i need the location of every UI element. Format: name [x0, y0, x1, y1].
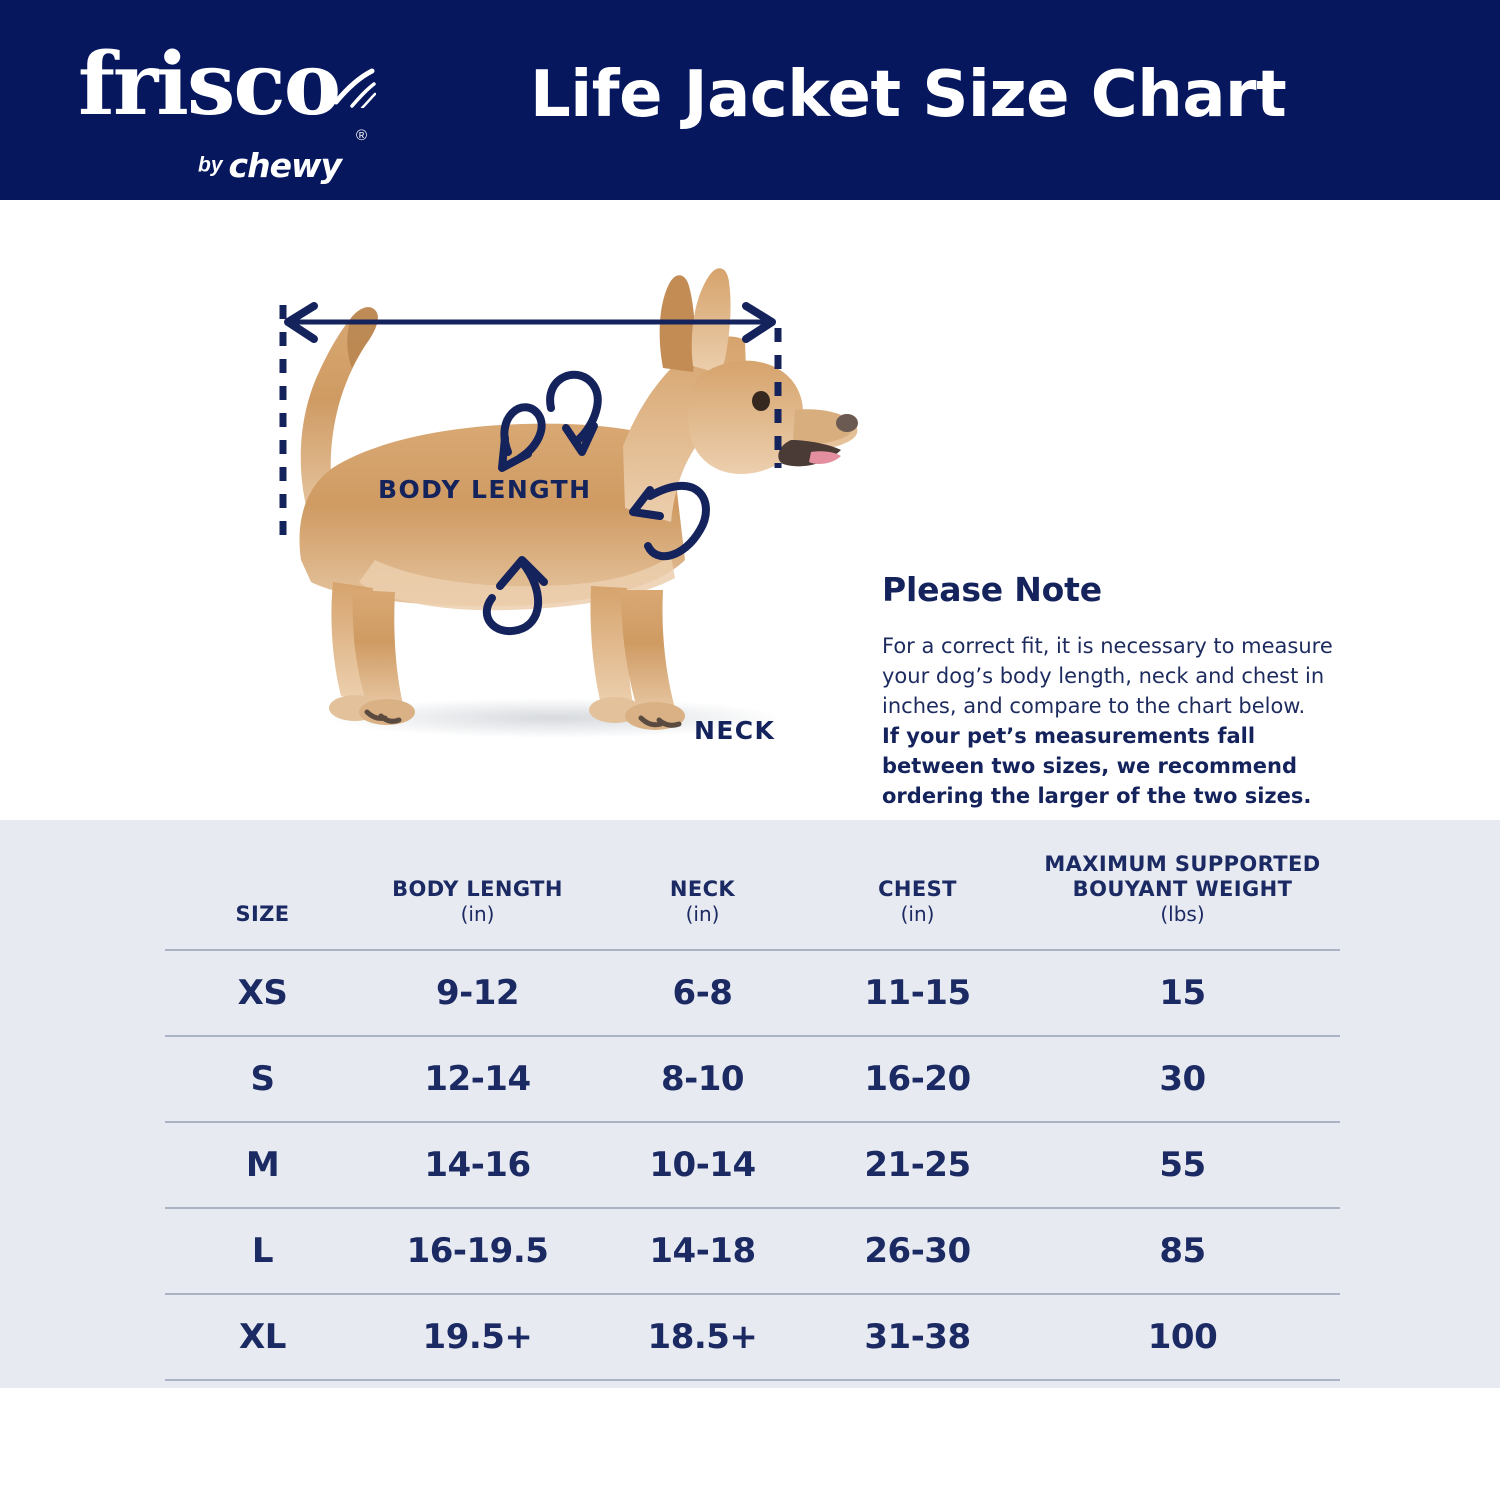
column-header-body-length-unit: (in): [364, 902, 591, 927]
table-row: M 14-16 10-14 21-25 55: [165, 1122, 1340, 1208]
cell-chest: 16-20: [810, 1036, 1025, 1122]
dog-ear-back: [660, 275, 695, 372]
dog-illustration: [255, 260, 875, 780]
please-note-emphasis: If your pet’s measurements fall between …: [882, 721, 1352, 811]
cell-weight: 85: [1025, 1208, 1340, 1294]
page-title: Life Jacket Size Chart: [530, 58, 1286, 132]
cell-size: M: [165, 1122, 360, 1208]
dog-ear-front: [692, 268, 731, 374]
please-note-paragraph: For a correct fit, it is necessary to me…: [882, 631, 1352, 721]
registered-trademark-icon: ®: [356, 128, 367, 143]
table-row: L 16-19.5 14-18 26-30 85: [165, 1208, 1340, 1294]
swoosh-icon: [330, 68, 376, 108]
dog-nose: [836, 414, 858, 432]
column-header-chest-unit: (in): [814, 902, 1021, 927]
cell-weight: 30: [1025, 1036, 1340, 1122]
column-header-neck: NECK (in): [595, 840, 810, 950]
cell-neck: 8-10: [595, 1036, 810, 1122]
cell-chest: 26-30: [810, 1208, 1025, 1294]
table-row: S 12-14 8-10 16-20 30: [165, 1036, 1340, 1122]
size-chart-table: SIZE BODY LENGTH (in) NECK (in) CHEST (i…: [165, 840, 1340, 1381]
column-header-body-length: BODY LENGTH (in): [360, 840, 595, 950]
cell-weight: 100: [1025, 1294, 1340, 1380]
page-header: frisco ® bychewy Life Jacket Size Chart: [0, 0, 1500, 200]
cell-body-length: 16-19.5: [360, 1208, 595, 1294]
cell-chest: 11-15: [810, 950, 1025, 1036]
cell-neck: 14-18: [595, 1208, 810, 1294]
column-header-size: SIZE: [165, 840, 360, 950]
cell-body-length: 19.5+: [360, 1294, 595, 1380]
size-chart-section: SIZE BODY LENGTH (in) NECK (in) CHEST (i…: [0, 820, 1500, 1388]
column-header-weight: MAXIMUM SUPPORTED BOUYANT WEIGHT (lbs): [1025, 840, 1340, 950]
table-row: XS 9-12 6-8 11-15 15: [165, 950, 1340, 1036]
cell-neck: 18.5+: [595, 1294, 810, 1380]
cell-size: XL: [165, 1294, 360, 1380]
cell-size: L: [165, 1208, 360, 1294]
table-row: XL 19.5+ 18.5+ 31-38 100: [165, 1294, 1340, 1380]
column-header-chest: CHEST (in): [810, 840, 1025, 950]
table-header-row: SIZE BODY LENGTH (in) NECK (in) CHEST (i…: [165, 840, 1340, 950]
cell-chest: 21-25: [810, 1122, 1025, 1208]
cell-body-length: 14-16: [360, 1122, 595, 1208]
brand-wordmark: frisco: [78, 42, 339, 128]
cell-neck: 6-8: [595, 950, 810, 1036]
cell-weight: 15: [1025, 950, 1340, 1036]
brand-by-label: by: [198, 154, 223, 177]
brand-subline: bychewy: [198, 146, 341, 185]
brand-parent-label: chewy: [229, 146, 341, 185]
cell-weight: 55: [1025, 1122, 1340, 1208]
footer-spacer: [0, 1388, 1500, 1500]
column-header-size-label: SIZE: [235, 902, 289, 926]
please-note-block: Please Note For a correct fit, it is nec…: [882, 570, 1352, 811]
cell-body-length: 12-14: [360, 1036, 595, 1122]
cell-body-length: 9-12: [360, 950, 595, 1036]
neck-label: NECK: [694, 716, 775, 745]
column-header-weight-label: MAXIMUM SUPPORTED BOUYANT WEIGHT: [1044, 852, 1320, 901]
cell-size: S: [165, 1036, 360, 1122]
cell-chest: 31-38: [810, 1294, 1025, 1380]
column-header-neck-unit: (in): [599, 902, 806, 927]
body-length-label: BODY LENGTH: [378, 475, 591, 504]
measurement-diagram: BODY LENGTH NECK CHEST Please Note For a…: [0, 200, 1500, 820]
column-header-neck-label: NECK: [670, 877, 735, 901]
cell-neck: 10-14: [595, 1122, 810, 1208]
cell-size: XS: [165, 950, 360, 1036]
column-header-weight-unit: (lbs): [1029, 902, 1336, 927]
column-header-body-length-label: BODY LENGTH: [392, 877, 563, 901]
column-header-chest-label: CHEST: [878, 877, 957, 901]
frisco-by-chewy-logo: frisco ® bychewy: [78, 42, 378, 162]
dog-eye: [752, 391, 770, 411]
please-note-heading: Please Note: [882, 570, 1352, 609]
